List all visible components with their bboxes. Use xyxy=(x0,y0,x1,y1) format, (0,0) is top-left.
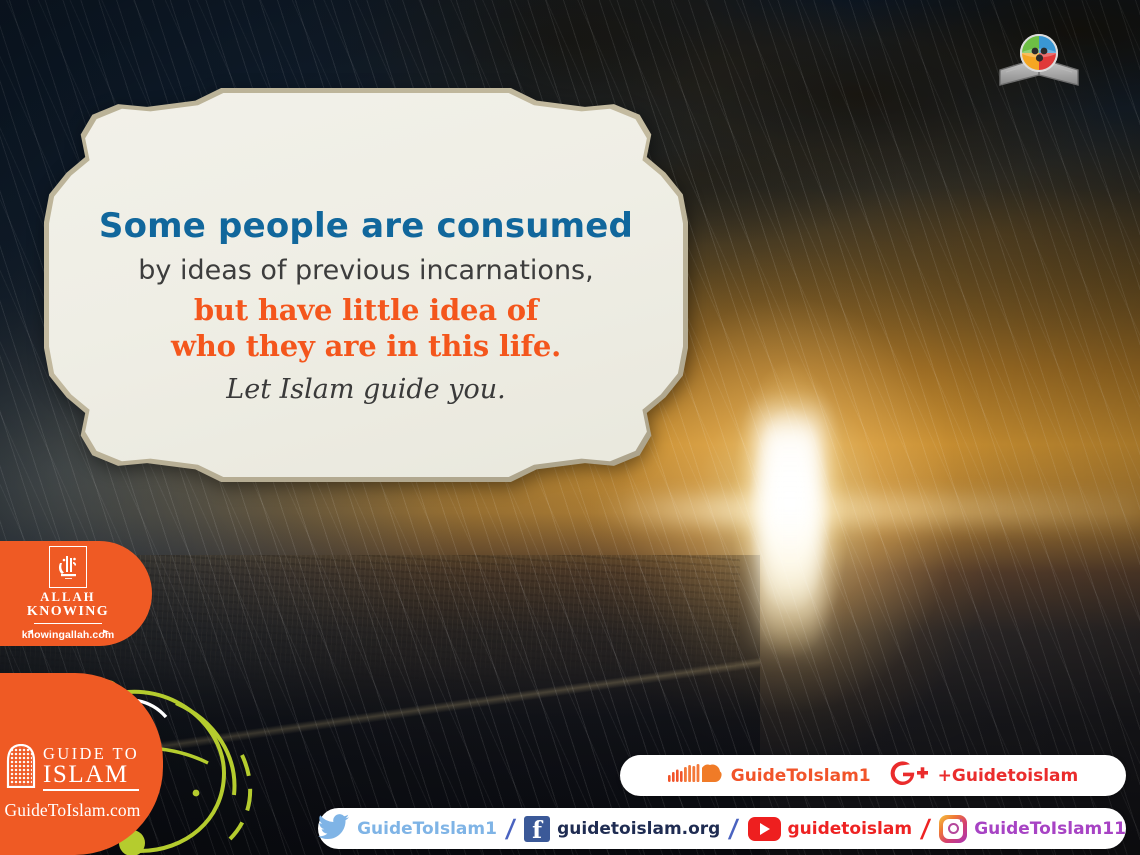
instagram-handle: GuideToIslam11 xyxy=(974,819,1126,839)
instagram-dot xyxy=(960,819,963,822)
social-bar-bottom: GuideToIslam1 / f guidetoislam.org / gui… xyxy=(318,808,1126,849)
quote-line-5: Let Islam guide you. xyxy=(44,374,688,405)
mosque-arch-icon xyxy=(6,744,36,793)
guide-to-islam-text: GUIDE TO ISLAM xyxy=(43,746,139,790)
play-triangle-icon xyxy=(760,823,770,835)
soundcloud-handle: GuideToIslam1 xyxy=(731,766,871,786)
youtube-handle: guidetoislam xyxy=(788,819,913,839)
twitter-handle: GuideToIslam1 xyxy=(357,819,497,839)
social-link-twitter[interactable]: GuideToIslam1 xyxy=(318,813,497,844)
quote-line-4: who they are in this life. xyxy=(44,329,688,365)
quote-line-2: by ideas of previous incarnations, xyxy=(44,253,688,288)
book-globe-icon[interactable] xyxy=(996,30,1082,92)
instagram-lens xyxy=(948,823,959,834)
brand-line-knowing: KNOWING xyxy=(27,605,109,619)
facebook-handle: guidetoislam.org xyxy=(557,819,720,839)
instagram-icon xyxy=(939,815,967,843)
guide-to-islam-wordmark: GUIDE TO ISLAM xyxy=(6,744,139,793)
ornament-divider xyxy=(27,621,109,626)
google-plus-handle: +Guidetoislam xyxy=(938,766,1079,786)
brand-guide-to-islam[interactable]: GUIDE TO ISLAM GuideToIslam.com xyxy=(0,673,163,855)
quote-card: Some people are consumed by ideas of pre… xyxy=(44,88,688,482)
soundcloud-icon xyxy=(668,762,722,789)
brand-allah-knowing[interactable]: ALLAH KNOWING knowingallah.com xyxy=(0,541,152,646)
wordmark-underline xyxy=(43,789,139,791)
brand-line-islam: ISLAM xyxy=(43,762,139,787)
social-link-youtube[interactable]: guidetoislam xyxy=(748,817,913,841)
guide-to-islam-url[interactable]: GuideToIslam.com xyxy=(5,800,141,821)
social-link-google-plus[interactable]: +Guidetoislam xyxy=(889,760,1079,791)
quote-line-1: Some people are consumed xyxy=(44,206,688,246)
social-link-soundcloud[interactable]: GuideToIslam1 xyxy=(668,762,871,789)
google-plus-icon xyxy=(889,760,929,791)
sun-horizon-band xyxy=(600,495,1140,525)
social-link-instagram[interactable]: GuideToIslam11 xyxy=(939,815,1126,843)
separator-3: / xyxy=(920,814,932,843)
brand-line-allah: ALLAH xyxy=(27,591,109,604)
quote-text-block: Some people are consumed by ideas of pre… xyxy=(44,206,688,405)
poster-canvas: Some people are consumed by ideas of pre… xyxy=(0,0,1140,855)
facebook-icon: f xyxy=(524,816,550,842)
separator-1: / xyxy=(504,814,516,843)
allah-knowing-wordmark: ALLAH KNOWING xyxy=(27,591,109,619)
social-link-facebook[interactable]: f guidetoislam.org xyxy=(524,816,720,842)
twitter-icon xyxy=(318,813,350,844)
quote-line-3: but have little idea of xyxy=(44,293,688,329)
sun-beam-reflection xyxy=(757,395,823,660)
separator-2: / xyxy=(728,814,740,843)
youtube-icon xyxy=(748,817,781,841)
social-bar-top: GuideToIslam1 +Guidetoislam xyxy=(620,755,1126,796)
arabic-calligraphy-icon xyxy=(49,546,87,588)
